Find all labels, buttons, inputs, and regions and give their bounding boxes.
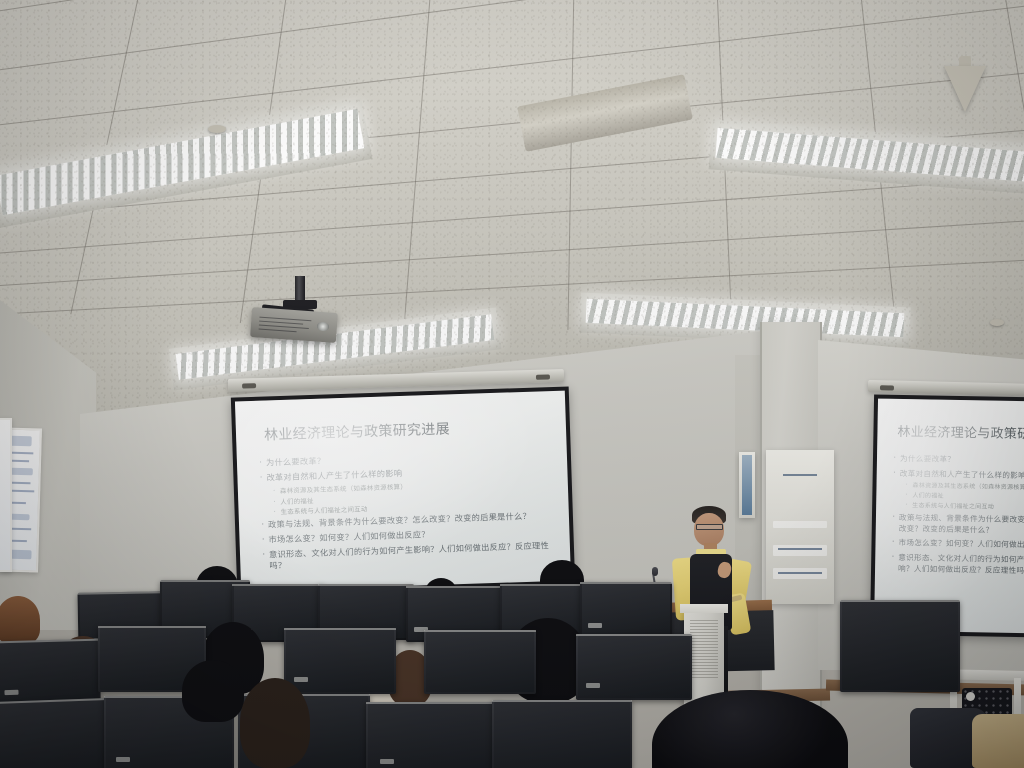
slide-bullet: 意识形态、文化对人们的行为如何产生影响？人们如何做出反应？反应理性吗？: [260, 539, 557, 572]
student-with-beanie: [0, 596, 40, 644]
slide-bullet-list: 为什么要改革？ 改革对自然和人产生了什么样的影响 森林资源及其生态系统（如森林资…: [257, 448, 557, 572]
computer-monitor: [424, 630, 536, 694]
podium-top-surface: [680, 604, 728, 613]
slide-title: 林业经济理论与政策研究进展: [264, 415, 553, 445]
slide-bullet: 改革对自然和人产生了什么样的影响: [891, 467, 1024, 483]
ceiling-cone-speaker: [944, 66, 986, 112]
eyeglasses: [696, 524, 723, 530]
ceiling-light-troffer: [586, 299, 905, 337]
smoke-detector: [990, 319, 1004, 326]
computer-monitor: [0, 639, 101, 708]
smoke-detector: [208, 125, 226, 133]
ceiling-light-troffer: [0, 109, 365, 215]
ceiling-projector: [250, 307, 338, 343]
computer-monitor: [580, 582, 672, 638]
main-screen-surface: 林业经济理论与政策研究进展 为什么要改革？ 改革对自然和人产生了什么样的影响 森…: [235, 391, 571, 592]
computer-monitor: [0, 698, 117, 768]
framed-wall-poster: [766, 450, 834, 604]
slide-bullet-list: 为什么要改革？ 改革对自然和人产生了什么样的影响 森林资源及其生态系统（如森林资…: [889, 453, 1024, 579]
student-silhouette: [182, 660, 244, 722]
ceiling-air-diffuser: [517, 74, 693, 152]
computer-monitor: [840, 600, 960, 692]
slide-content: 林业经济理论与政策研究进展 为什么要改革？ 改革对自然和人产生了什么样的影响 森…: [874, 399, 1024, 634]
student-silhouette: [240, 678, 310, 768]
main-projection-screen[interactable]: 林业经济理论与政策研究进展 为什么要改革？ 改革对自然和人产生了什么样的影响 森…: [231, 386, 575, 595]
secondary-screen-surface: 林业经济理论与政策研究进展 为什么要改革？ 改革对自然和人产生了什么样的影响 森…: [874, 399, 1024, 634]
slide-content: 林业经济理论与政策研究进展 为什么要改革？ 改革对自然和人产生了什么样的影响 森…: [235, 391, 571, 592]
slide-bullet: 市场怎么变？如何变？人们如何做出反应？: [889, 537, 1024, 553]
tan-bag: [972, 714, 1024, 768]
computer-monitor: [366, 702, 502, 768]
computer-monitor: [576, 634, 692, 700]
computer-monitor: [284, 628, 396, 694]
slide-bullet: 政策与法规、背景条件为什么要改变？怎么改变？改变的后果是什么？: [890, 512, 1024, 537]
ceiling-light-troffer: [715, 128, 1024, 182]
lecture-hall-photo: 林业经济理论与政策研究进展 为什么要改革？ 改革对自然和人产生了什么样的影响 森…: [0, 0, 1024, 768]
projector-lens: [317, 322, 330, 332]
computer-monitor: [492, 700, 632, 768]
chair-adjust-knob[interactable]: [966, 692, 975, 701]
slide-title: 林业经济理论与政策研究进展: [897, 421, 1024, 445]
slide-bullet: 意识形态、文化对人们的行为如何产生影响？人们如何做出反应？反应理性吗？: [889, 552, 1024, 577]
projector-mount-pole: [295, 276, 305, 302]
poster-artwork: [769, 453, 831, 601]
wall-notice-board: [0, 418, 12, 572]
slide-bullet: 为什么要改革？: [891, 453, 1024, 469]
microphone-capsule: [652, 567, 658, 576]
